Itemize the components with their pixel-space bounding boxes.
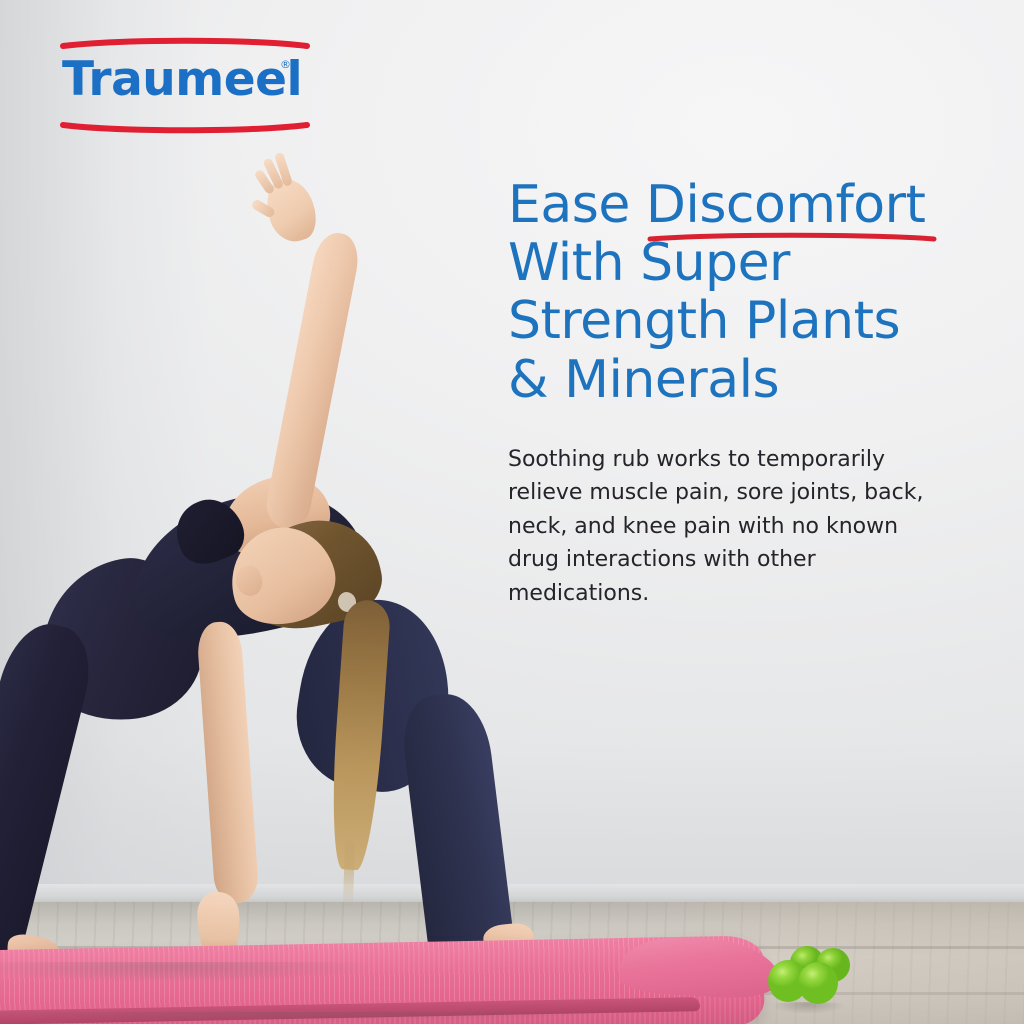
woman-stretching [0,0,520,1024]
body-line: neck, and knee pain with no known [508,510,948,543]
advertisement-banner: Traumeel ® Ease Discomfort With Super St… [0,0,1024,1024]
headline-line-1-text: Ease Discomfort [508,175,925,235]
headline-line-3: Strength Plants [508,292,960,350]
green-dumbbells [762,946,850,1008]
copy-block: Ease Discomfort With Super Strength Plan… [508,176,960,610]
headline-line-1: Ease Discomfort [508,176,960,234]
logo-rule-bottom-icon [62,122,308,133]
yoga-mat-shadow [0,1012,740,1024]
left-leg [0,615,100,964]
thumb [250,198,276,219]
lowered-arm [196,620,260,904]
body-copy: Soothing rub works to temporarily reliev… [508,443,948,610]
headline-line-2: With Super [508,234,960,292]
body-line: drug interactions with other [508,543,948,576]
raised-hand [259,172,323,247]
figure-shadow [0,962,560,984]
headline: Ease Discomfort With Super Strength Plan… [508,176,960,409]
logo-rule-top-icon [62,38,308,49]
raised-arm [262,229,362,532]
headline-line-4: & Minerals [508,351,960,409]
traumeel-logo[interactable]: Traumeel ® [62,38,312,134]
body-line: Soothing rub works to temporarily [508,443,948,476]
body-line: relieve muscle pain, sore joints, back, [508,476,948,509]
registered-trademark-icon: ® [280,58,291,71]
logo-wordmark: Traumeel [62,56,302,103]
body-line: medications. [508,577,948,610]
ponytail-wisp [343,840,355,906]
dumbbell-weight [798,962,838,1004]
